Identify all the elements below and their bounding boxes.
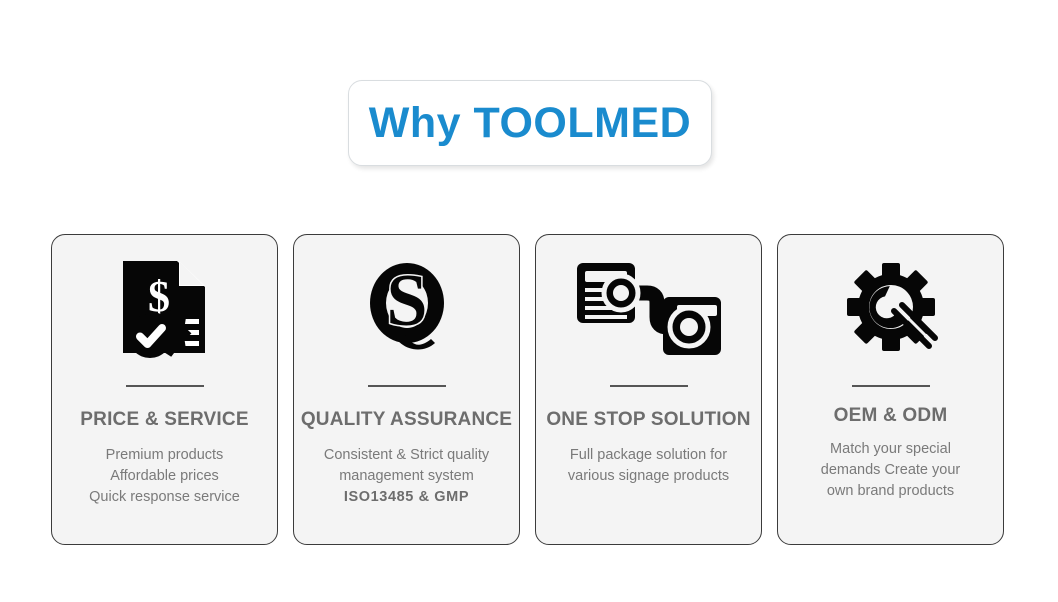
card-title: QUALITY ASSURANCE xyxy=(301,409,512,431)
card-desc-line: Affordable prices xyxy=(89,466,240,487)
card-title: ONE STOP SOLUTION xyxy=(546,409,750,431)
card-desc-line: Quick response service xyxy=(89,487,240,508)
quality-sq-monogram-icon: S xyxy=(359,243,455,375)
svg-text:S: S xyxy=(386,260,427,342)
card-desc-line: Premium products xyxy=(89,445,240,466)
feature-card-quality-assurance[interactable]: S QUALITY ASSURANCE Consistent & Strict … xyxy=(293,234,520,545)
feature-cards-row: $ PRICE & SERVICE Premium products Affor… xyxy=(51,234,1007,545)
card-title: PRICE & SERVICE xyxy=(80,409,248,431)
card-divider xyxy=(368,385,446,387)
card-title: OEM & ODM xyxy=(834,405,948,427)
card-divider xyxy=(610,385,688,387)
page-title: Why TOOLMED xyxy=(369,102,691,145)
card-description: Premium products Affordable prices Quick… xyxy=(79,445,250,508)
card-divider xyxy=(126,385,204,387)
feature-card-oem-odm[interactable]: OEM & ODM Match your special demands Cre… xyxy=(777,234,1004,545)
card-description: Match your special demands Create your o… xyxy=(811,439,970,502)
card-divider xyxy=(852,385,930,387)
invoice-dollar-verified-icon: $ xyxy=(117,243,213,375)
card-desc-line: Match your special xyxy=(821,439,960,460)
card-desc-line: Full package solution for xyxy=(568,445,729,466)
card-desc-line: management system xyxy=(324,466,489,487)
feature-card-one-stop-solution[interactable]: ONE STOP SOLUTION Full package solution … xyxy=(535,234,762,545)
card-desc-line: demands Create your xyxy=(821,460,960,481)
card-description: Consistent & Strict quality management s… xyxy=(314,445,499,508)
card-desc-certification: ISO13485 & GMP xyxy=(324,487,489,508)
feature-card-price-service[interactable]: $ PRICE & SERVICE Premium products Affor… xyxy=(51,234,278,545)
card-description: Full package solution for various signag… xyxy=(558,445,739,487)
title-badge: Why TOOLMED xyxy=(348,80,712,166)
card-desc-line: Consistent & Strict quality xyxy=(324,445,489,466)
gear-wrench-icon xyxy=(841,243,941,375)
card-desc-line: various signage products xyxy=(568,466,729,487)
workflow-nodes-icon xyxy=(573,243,725,375)
card-desc-line: own brand products xyxy=(821,481,960,502)
